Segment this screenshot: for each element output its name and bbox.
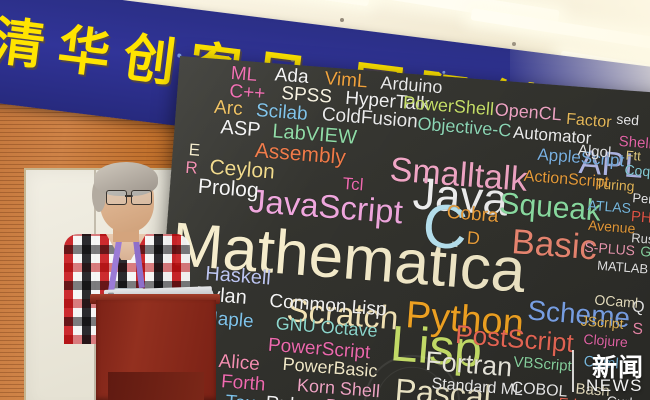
- word-cloud-term: OCaml: [594, 293, 639, 310]
- word-cloud-term: Ftt: [625, 149, 641, 163]
- word-cloud-term: Turing: [595, 176, 635, 193]
- word-cloud-term: E: [188, 141, 201, 159]
- word-cloud-term: ATLAS: [587, 198, 631, 215]
- podium-base: [108, 372, 204, 400]
- word-cloud-term: Algol: [577, 143, 611, 161]
- ceiling-fitting: [340, 18, 344, 22]
- word-cloud-term: ML: [230, 64, 258, 85]
- word-cloud-term: VimL: [324, 69, 368, 91]
- ceiling-light-icon: [150, 0, 370, 6]
- watermark-en: NEWS: [586, 376, 643, 396]
- word-cloud-term: Tcl: [342, 175, 364, 194]
- word-cloud-term: MATLAB: [597, 259, 649, 276]
- word-cloud-term: S: [632, 322, 644, 339]
- word-cloud-term: Go: [640, 244, 650, 259]
- word-cloud-term: Coq: [624, 162, 650, 178]
- word-cloud-term: Ruby: [265, 394, 311, 400]
- screenshot-root: 清华创客日 国际创客教育交流 MathematicaJavaLispCJavaS…: [0, 0, 650, 400]
- word-cloud-term: S-PLUS: [584, 240, 636, 258]
- word-cloud-term: D: [466, 229, 480, 248]
- word-cloud-term: Cobra: [446, 203, 499, 226]
- word-cloud-term: JScript: [580, 314, 624, 331]
- word-cloud-term: Ada: [274, 65, 309, 87]
- word-cloud-term: Tex: [225, 393, 256, 400]
- news-watermark: 新闻 NEWS: [554, 348, 646, 396]
- word-cloud-term: sed: [616, 112, 640, 128]
- watermark-divider: [572, 350, 574, 392]
- word-cloud-term: Clojure: [583, 332, 628, 349]
- word-cloud-term: Perl: [632, 191, 650, 206]
- word-cloud-term: Factor: [566, 112, 612, 131]
- word-cloud-term: Avenue: [588, 218, 636, 236]
- glasses-icon: [106, 190, 152, 203]
